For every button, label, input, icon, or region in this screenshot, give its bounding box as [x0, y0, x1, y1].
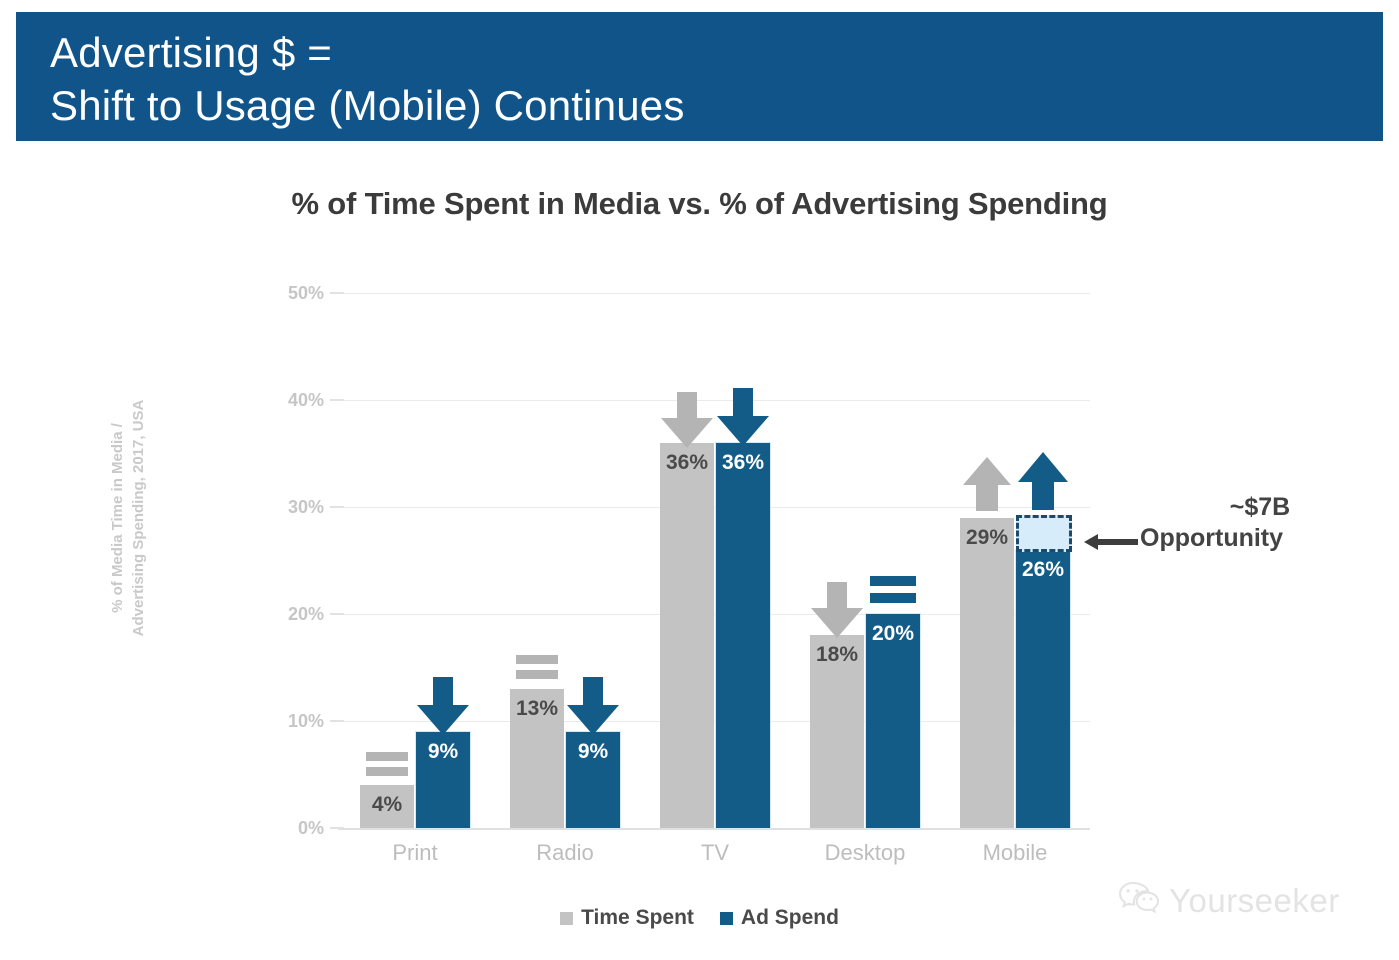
trend-down-arrow-icon-time-spent-desktop — [803, 580, 871, 640]
gridline-50 — [338, 293, 1090, 294]
bar-time-spent-print[interactable]: 4% — [360, 785, 414, 828]
y-tick-label-30: 30% — [264, 497, 324, 518]
tick-mark-20 — [330, 613, 344, 615]
opportunity-arrow-icon — [1084, 533, 1140, 556]
bar-ad-spend-tv[interactable]: 36% — [716, 443, 770, 828]
trend-equals-icon-time-spent-print — [360, 750, 414, 780]
trend-equals-icon-time-spent-radio — [510, 653, 564, 683]
opportunity-label: Opportunity — [1140, 523, 1370, 554]
x-axis-label-mobile: Mobile — [950, 840, 1080, 866]
opportunity-gap-box — [1016, 515, 1072, 552]
legend-swatch-time-spent — [560, 912, 573, 925]
y-axis-title-line-1: % of Media Time in Media / — [107, 353, 128, 683]
opportunity-amount: ~$7B — [1140, 492, 1370, 523]
y-tick-label-50: 50% — [264, 283, 324, 304]
legend-item-time-spent[interactable]: Time Spent — [560, 906, 694, 930]
legend-label-ad-spend: Ad Spend — [741, 906, 839, 930]
y-tick-label-10: 10% — [264, 711, 324, 732]
tick-mark-40 — [330, 399, 344, 401]
bar-label-time-spent-mobile: 29% — [960, 526, 1014, 550]
bar-label-ad-spend-mobile: 26% — [1016, 558, 1070, 582]
y-tick-label-20: 20% — [264, 604, 324, 625]
bar-time-spent-radio[interactable]: 13% — [510, 689, 564, 828]
bar-label-ad-spend-print: 9% — [416, 740, 470, 764]
watermark: Yourseeker — [1118, 880, 1340, 921]
trend-up-arrow-icon-ad-spend-mobile — [1016, 450, 1070, 512]
x-axis-label-desktop: Desktop — [800, 840, 930, 866]
x-axis-label-print: Print — [350, 840, 480, 866]
bar-time-spent-desktop[interactable]: 18% — [810, 635, 864, 828]
y-axis-title-line-2: Advertising Spending, 2017, USA — [128, 353, 149, 683]
x-axis-label-tv: TV — [650, 840, 780, 866]
legend-item-ad-spend[interactable]: Ad Spend — [720, 906, 839, 930]
trend-down-arrow-icon-ad-spend-tv — [709, 386, 777, 448]
x-axis-label-radio: Radio — [500, 840, 630, 866]
y-tick-label-40: 40% — [264, 390, 324, 411]
chart-plot-area: % of Media Time in Media / Advertising S… — [0, 0, 1399, 960]
bar-label-time-spent-radio: 13% — [510, 697, 564, 721]
legend-swatch-ad-spend — [720, 912, 733, 925]
bar-label-time-spent-desktop: 18% — [810, 643, 864, 667]
bar-ad-spend-desktop[interactable]: 20% — [866, 614, 920, 828]
y-axis-title: % of Media Time in Media / Advertising S… — [107, 353, 149, 683]
tick-mark-10 — [330, 720, 344, 722]
trend-up-arrow-icon-time-spent-mobile — [960, 455, 1014, 513]
y-tick-label-0: 0% — [264, 818, 324, 839]
trend-equals-icon-ad-spend-desktop — [866, 574, 920, 608]
bar-label-ad-spend-radio: 9% — [566, 740, 620, 764]
axis-baseline — [338, 828, 1090, 830]
bar-time-spent-tv[interactable]: 36% — [660, 443, 714, 828]
tick-mark-30 — [330, 506, 344, 508]
trend-down-arrow-icon-ad-spend-radio — [559, 675, 627, 737]
bar-time-spent-mobile[interactable]: 29% — [960, 518, 1014, 828]
bar-ad-spend-print[interactable]: 9% — [416, 732, 470, 828]
bar-label-ad-spend-desktop: 20% — [866, 622, 920, 646]
bar-ad-spend-mobile[interactable]: 26% — [1016, 550, 1070, 828]
tick-mark-0 — [330, 827, 344, 829]
bar-label-time-spent-tv: 36% — [660, 451, 714, 475]
bar-ad-spend-radio[interactable]: 9% — [566, 732, 620, 828]
watermark-text: Yourseeker — [1169, 882, 1340, 920]
wechat-icon — [1118, 880, 1160, 921]
trend-down-arrow-icon-ad-spend-print — [409, 675, 477, 737]
opportunity-annotation: ~$7B Opportunity — [1140, 492, 1370, 554]
bar-label-time-spent-print: 4% — [360, 793, 414, 817]
tick-mark-50 — [330, 292, 344, 294]
legend-label-time-spent: Time Spent — [581, 906, 694, 930]
bar-label-ad-spend-tv: 36% — [716, 451, 770, 475]
